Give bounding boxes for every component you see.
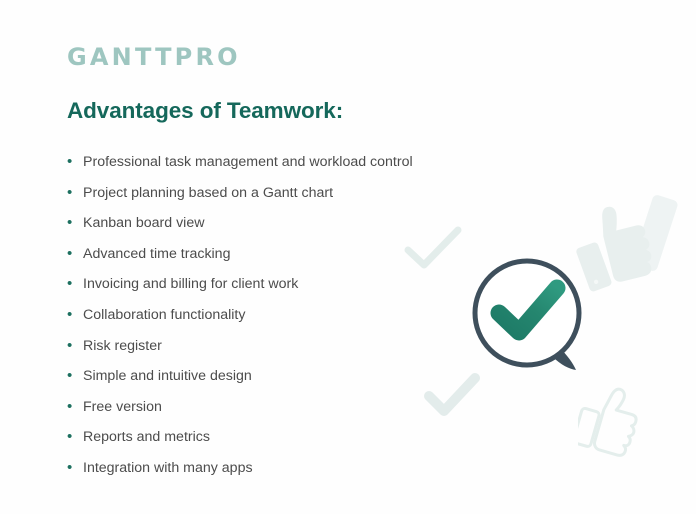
list-item: •Free version bbox=[67, 392, 487, 423]
bullet-dot-icon: • bbox=[67, 422, 83, 453]
bullet-dot-icon: • bbox=[67, 147, 83, 178]
list-item-label: Risk register bbox=[83, 331, 162, 362]
list-item: •Collaboration functionality bbox=[67, 300, 487, 331]
list-item: •Professional task management and worklo… bbox=[67, 147, 487, 178]
list-item-label: Reports and metrics bbox=[83, 422, 210, 453]
ganttpro-logo: GANTTPRO bbox=[67, 45, 241, 69]
list-item: •Advanced time tracking bbox=[67, 239, 487, 270]
speech-bubble-checkmark-illustration bbox=[455, 243, 603, 389]
list-item: •Integration with many apps bbox=[67, 453, 487, 484]
advantages-list: •Professional task management and worklo… bbox=[67, 147, 487, 484]
list-item-label: Simple and intuitive design bbox=[83, 361, 252, 392]
bullet-dot-icon: • bbox=[67, 361, 83, 392]
decorative-strip bbox=[640, 188, 696, 278]
list-item: •Risk register bbox=[67, 331, 487, 362]
list-item: •Simple and intuitive design bbox=[67, 361, 487, 392]
bullet-dot-icon: • bbox=[67, 208, 83, 239]
page-title: Advantages of Teamwork: bbox=[67, 97, 343, 124]
list-item: •Kanban board view bbox=[67, 208, 487, 239]
bullet-dot-icon: • bbox=[67, 331, 83, 362]
list-item-label: Integration with many apps bbox=[83, 453, 253, 484]
list-item: •Invoicing and billing for client work bbox=[67, 269, 487, 300]
thumbs-up-outline-icon bbox=[578, 382, 644, 460]
bullet-dot-icon: • bbox=[67, 239, 83, 270]
list-item-label: Project planning based on a Gantt chart bbox=[83, 178, 333, 209]
list-item-label: Kanban board view bbox=[83, 208, 204, 239]
list-item-label: Invoicing and billing for client work bbox=[83, 269, 298, 300]
bullet-dot-icon: • bbox=[67, 300, 83, 331]
bullet-dot-icon: • bbox=[67, 178, 83, 209]
bullet-dot-icon: • bbox=[67, 453, 83, 484]
list-item: •Reports and metrics bbox=[67, 422, 487, 453]
list-item-label: Free version bbox=[83, 392, 162, 423]
list-item: •Project planning based on a Gantt chart bbox=[67, 178, 487, 209]
bullet-dot-icon: • bbox=[67, 269, 83, 300]
list-item-label: Advanced time tracking bbox=[83, 239, 230, 270]
bullet-dot-icon: • bbox=[67, 392, 83, 423]
list-item-label: Collaboration functionality bbox=[83, 300, 245, 331]
list-item-label: Professional task management and workloa… bbox=[83, 147, 413, 178]
slide-canvas: GANTTPRO Advantages of Teamwork: •Profes… bbox=[0, 0, 696, 514]
